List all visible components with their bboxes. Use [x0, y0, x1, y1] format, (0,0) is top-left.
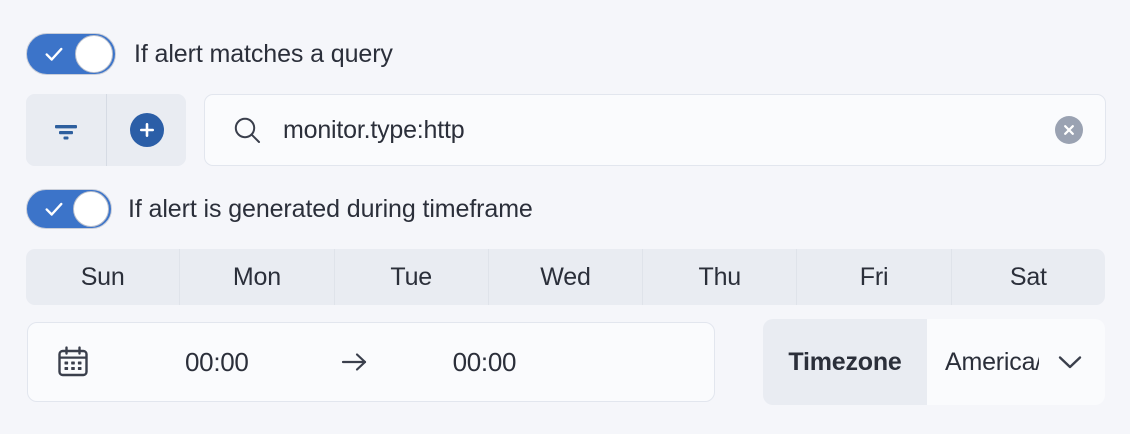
day-button-wed[interactable]: Wed	[488, 249, 642, 305]
condition-row-query: If alert matches a query	[26, 33, 393, 75]
query-button-group	[26, 94, 186, 166]
query-bar: monitor.type:http	[26, 94, 1106, 166]
time-from-value[interactable]: 00:00	[185, 347, 249, 378]
chevron-down-icon	[1057, 353, 1083, 371]
timezone-selector: Timezone America/	[763, 319, 1105, 405]
close-icon	[1062, 123, 1076, 137]
day-button-tue[interactable]: Tue	[334, 249, 488, 305]
filter-icon	[51, 118, 81, 142]
day-button-thu[interactable]: Thu	[642, 249, 796, 305]
day-button-sat[interactable]: Sat	[951, 249, 1105, 305]
clear-query-button[interactable]	[1055, 116, 1083, 144]
day-button-sun[interactable]: Sun	[26, 249, 179, 305]
query-search-field[interactable]: monitor.type:http	[204, 94, 1106, 166]
search-icon	[231, 114, 263, 146]
time-to-value[interactable]: 00:00	[453, 347, 517, 378]
condition-row-timeframe: If alert is generated during timeframe	[26, 189, 533, 229]
add-filter-button[interactable]	[106, 94, 186, 166]
plus-circle-icon	[130, 113, 164, 147]
condition-label-query: If alert matches a query	[134, 40, 393, 69]
arrow-right-icon	[339, 350, 371, 374]
filter-button[interactable]	[26, 94, 106, 166]
timezone-label: Timezone	[763, 319, 927, 405]
toggle-if-alert-generated-during-timeframe[interactable]	[26, 189, 112, 229]
timezone-value: America/	[945, 348, 1039, 377]
timezone-dropdown[interactable]: America/	[927, 319, 1105, 405]
condition-label-timeframe: If alert is generated during timeframe	[128, 195, 533, 224]
day-button-mon[interactable]: Mon	[179, 249, 333, 305]
time-range-picker[interactable]: 00:00 00:00	[27, 322, 715, 402]
toggle-knob	[73, 191, 109, 227]
alert-conditions-panel: If alert matches a query	[0, 0, 1130, 434]
day-button-fri[interactable]: Fri	[796, 249, 950, 305]
plus-icon	[137, 120, 157, 140]
check-icon	[43, 43, 65, 65]
toggle-if-alert-matches-query[interactable]	[26, 33, 116, 75]
toggle-knob	[75, 35, 113, 73]
check-icon	[43, 198, 65, 220]
day-of-week-selector: Sun Mon Tue Wed Thu Fri Sat	[26, 249, 1105, 305]
query-search-value: monitor.type:http	[283, 116, 464, 145]
calendar-icon	[55, 344, 91, 380]
